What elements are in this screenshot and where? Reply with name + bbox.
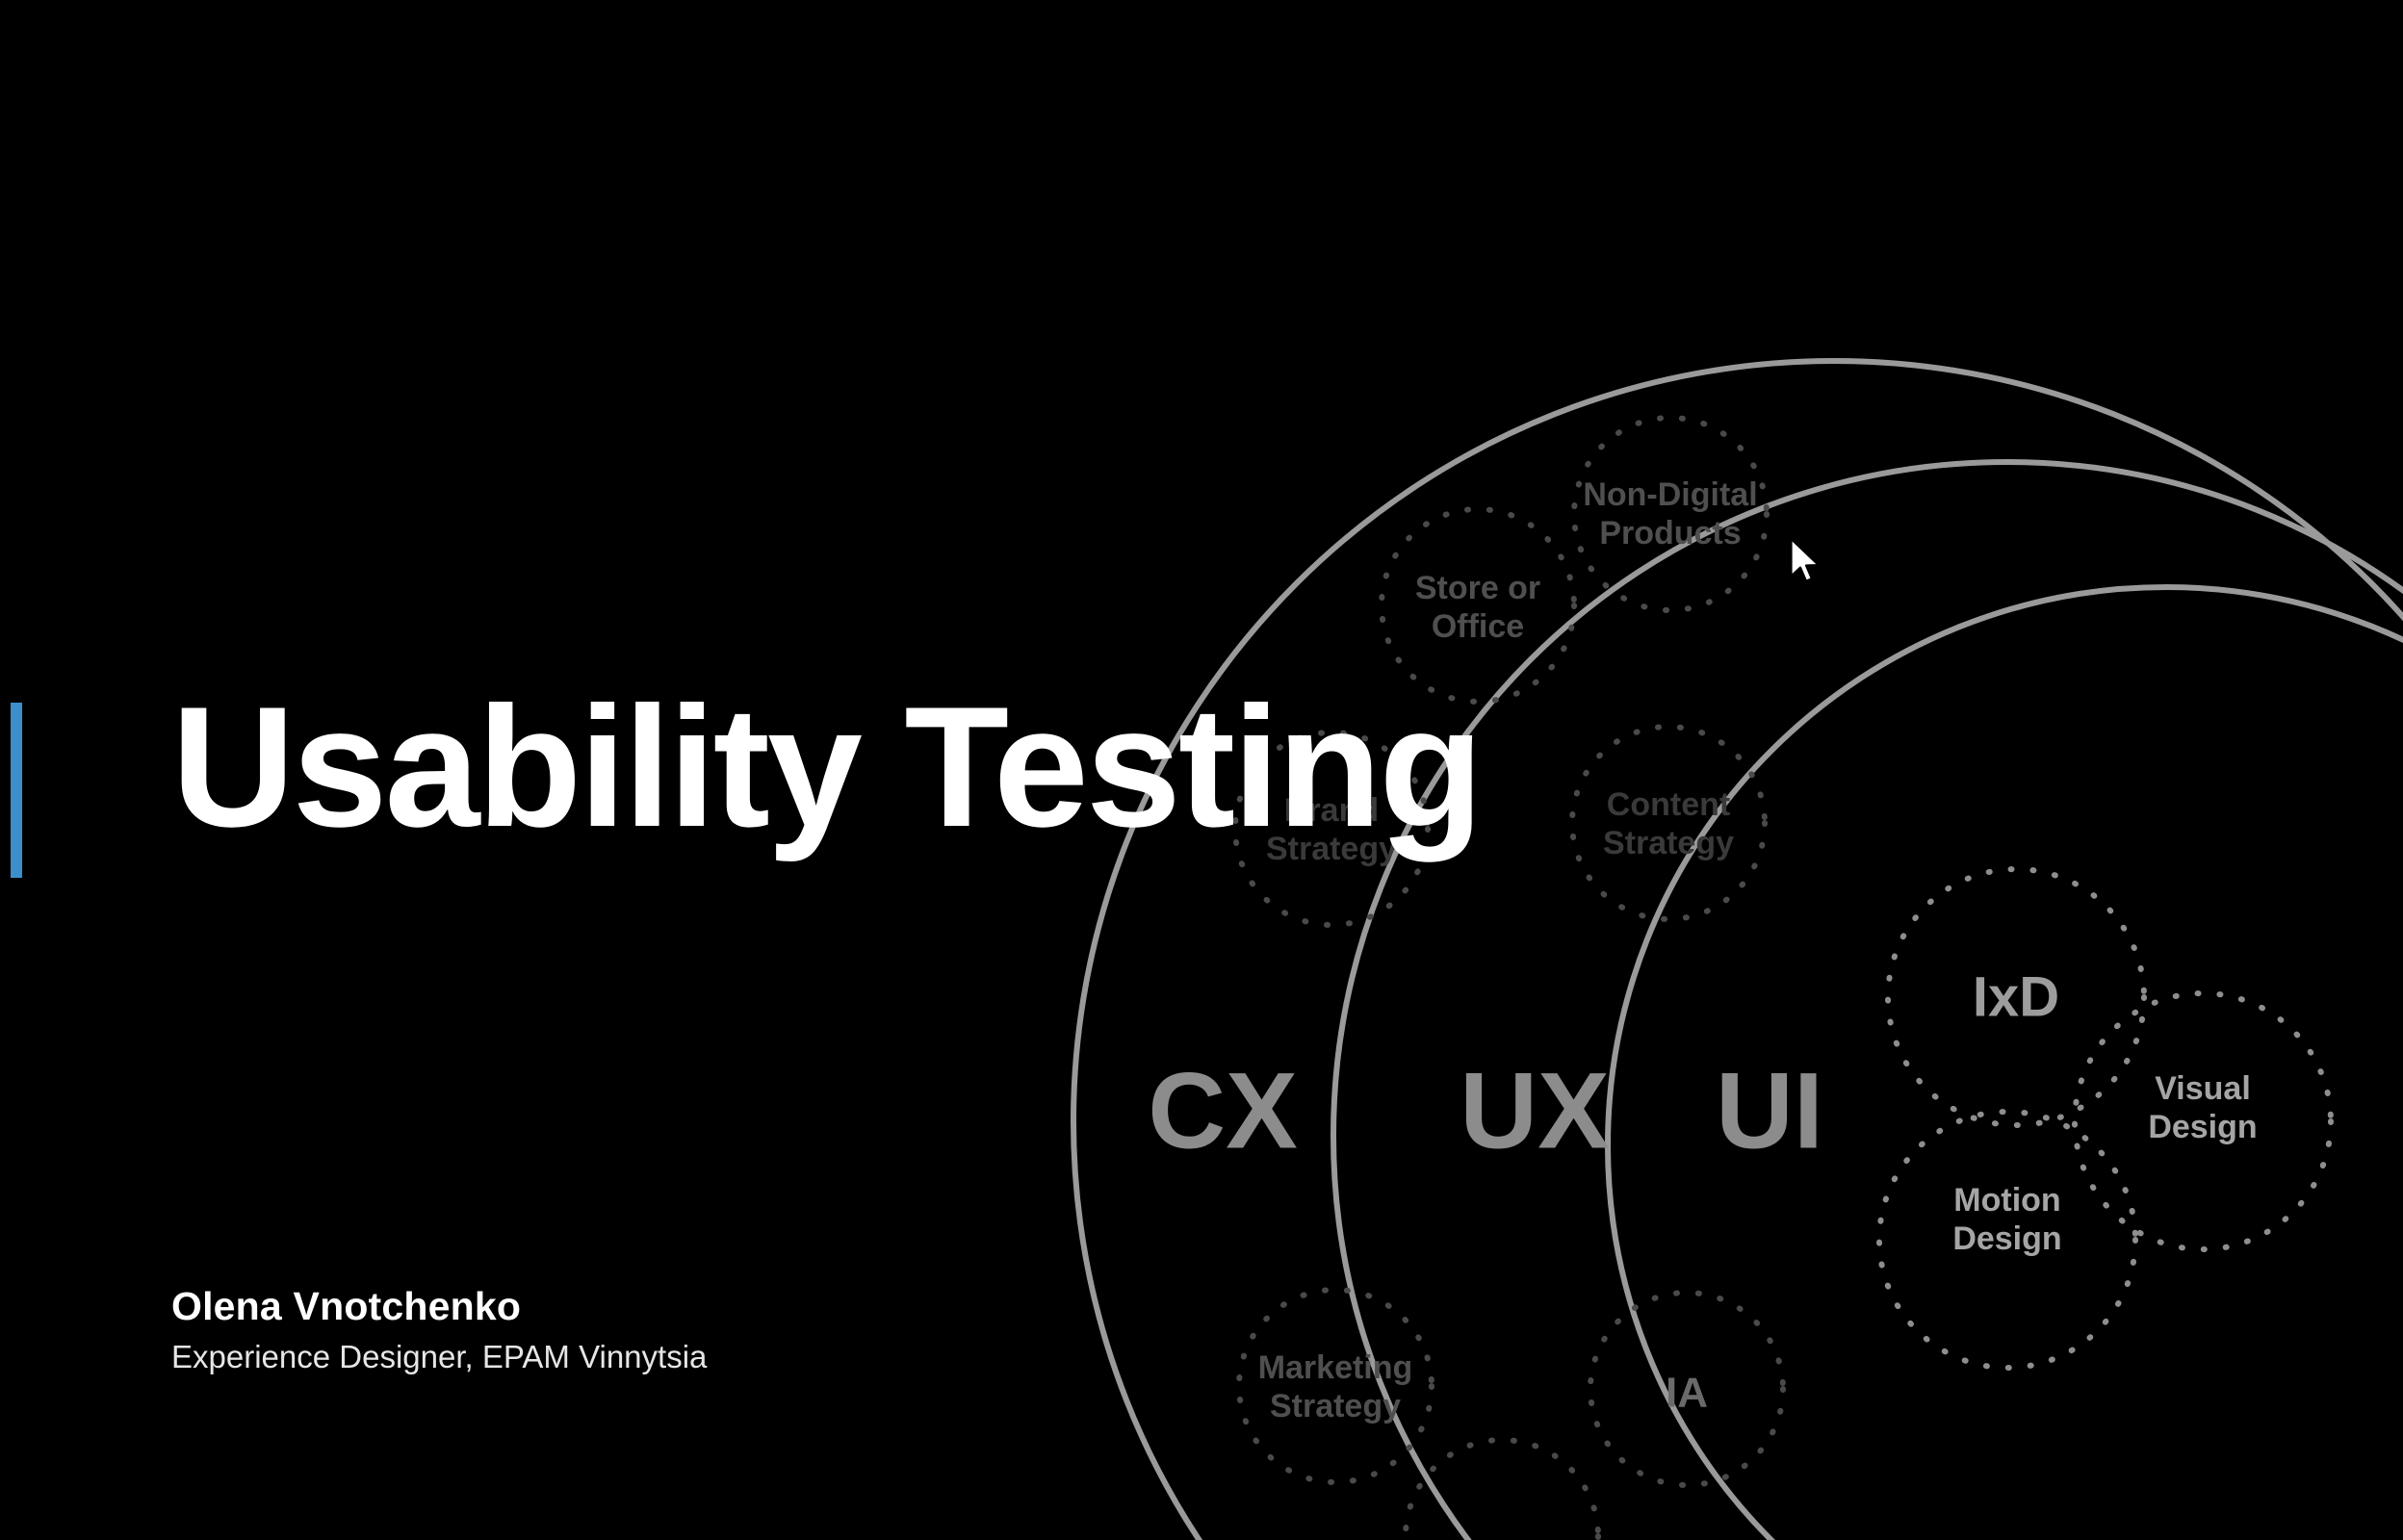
svg-text:Strategy: Strategy: [1270, 1388, 1401, 1424]
presentation-slide: CX UX UI Non-Digital Products Store or O…: [0, 0, 2403, 1540]
diagram-label-ui: UI: [1716, 1051, 1823, 1171]
bubble-caption-ixd: IxD: [1973, 965, 2059, 1028]
bubble-caption-motion-design: Motion Design: [1952, 1182, 2061, 1257]
svg-text:Office: Office: [1432, 608, 1524, 645]
bubble-caption-brand-strategy: Brand Strategy: [1266, 792, 1397, 867]
svg-text:Design: Design: [1952, 1220, 2061, 1257]
svg-text:Strategy: Strategy: [1266, 831, 1397, 867]
diagram-canvas: CX UX UI Non-Digital Products Store or O…: [0, 0, 2403, 1540]
svg-text:Non-Digital: Non-Digital: [1583, 476, 1757, 513]
bubble-brand-strategy: [1235, 732, 1428, 925]
diagram-label-ux: UX: [1460, 1051, 1610, 1171]
svg-text:Strategy: Strategy: [1603, 825, 1734, 861]
bubble-marketing-strategy: [1239, 1290, 1432, 1482]
svg-text:Motion: Motion: [1953, 1182, 2060, 1219]
svg-text:Content: Content: [1607, 786, 1730, 823]
bubble-caption-content-strategy: Content Strategy: [1603, 786, 1734, 861]
bubble-caption-visual-design: Visual Design: [2148, 1070, 2257, 1145]
bubble-caption-ia: IA: [1666, 1370, 1708, 1417]
bubble-caption-store-or-office: Store or Office: [1415, 570, 1540, 645]
svg-text:Marketing: Marketing: [1258, 1349, 1413, 1386]
svg-text:Products: Products: [1599, 515, 1741, 552]
svg-text:Visual: Visual: [2155, 1070, 2251, 1107]
bubble-caption-marketing-strategy: Marketing Strategy: [1258, 1349, 1413, 1424]
svg-text:Brand: Brand: [1284, 792, 1379, 829]
diagram-label-cx: CX: [1148, 1051, 1298, 1171]
svg-text:Store or: Store or: [1415, 570, 1540, 606]
cx-ux-ui-diagram: CX UX UI Non-Digital Products Store or O…: [0, 0, 2403, 1540]
bubble-non-digital-products: [1574, 418, 1767, 610]
bubble-caption-non-digital-products: Non-Digital Products: [1583, 476, 1757, 552]
svg-text:Design: Design: [2148, 1109, 2257, 1145]
